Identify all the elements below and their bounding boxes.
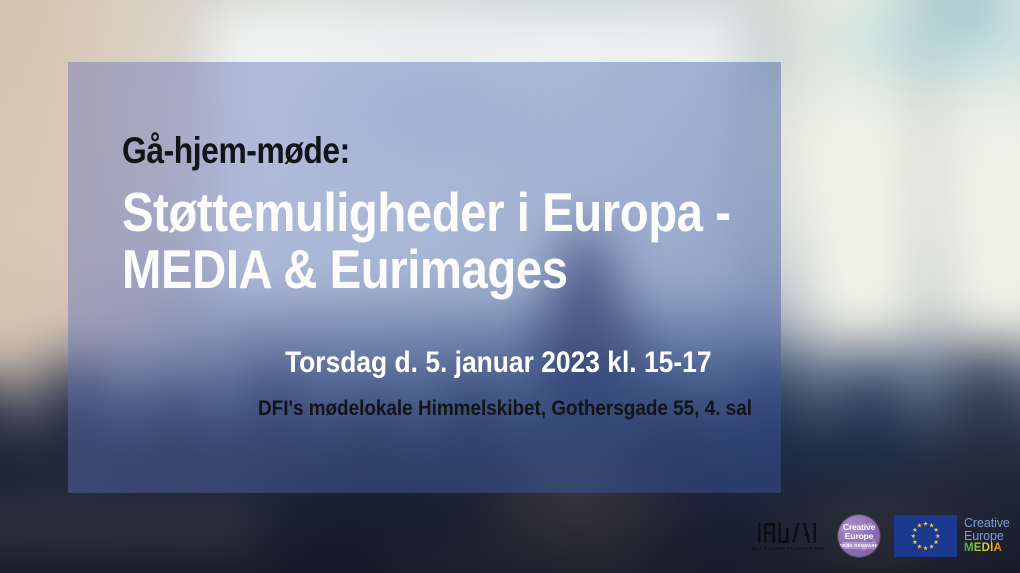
- dfi-logo-subtitle: DET DANSKE FILMINSTITUT: [752, 546, 824, 551]
- eu-flag-stars: [894, 515, 957, 557]
- title-line-1: Støttemuligheder i Europa -: [122, 181, 731, 243]
- dfi-logo: DET DANSKE FILMINSTITUT: [752, 522, 824, 551]
- ce-media-wordmark: Creative Europe MEDIA: [964, 517, 1010, 555]
- creative-europe-desk-denmark-logo: Creative Europe DESK DENMARK: [838, 515, 880, 557]
- eu-flag-icon: [894, 515, 957, 557]
- event-poster: Gå-hjem-møde: Støttemuligheder i Europa …: [0, 0, 1020, 573]
- poster-kicker: Gå-hjem-møde:: [122, 131, 350, 171]
- ce-media-line-3: MEDIA: [964, 542, 1010, 555]
- ce-desk-line-2: Europe: [845, 532, 873, 541]
- event-datetime: Torsdag d. 5. januar 2023 kl. 15-17: [285, 347, 712, 379]
- ce-media-line-2: Europe: [964, 530, 1010, 543]
- ce-media-line-1: Creative: [964, 517, 1010, 530]
- page-title: Støttemuligheder i Europa - MEDIA & Euri…: [122, 184, 731, 298]
- event-venue: DFI's mødelokale Himmelskibet, Gothersga…: [258, 397, 752, 420]
- poster-text: Gå-hjem-møde: Støttemuligheder i Europa …: [0, 0, 1020, 573]
- logo-strip: DET DANSKE FILMINSTITUT Creative Europe …: [752, 508, 1016, 564]
- title-line-2: MEDIA & Eurimages: [122, 241, 731, 298]
- creative-europe-media-logo: Creative Europe MEDIA: [894, 515, 1010, 557]
- ce-desk-line-3: DESK DENMARK: [840, 543, 878, 548]
- dfi-filminstitut-mark: [757, 522, 819, 544]
- ce-desk-banner: DESK DENMARK: [842, 542, 876, 549]
